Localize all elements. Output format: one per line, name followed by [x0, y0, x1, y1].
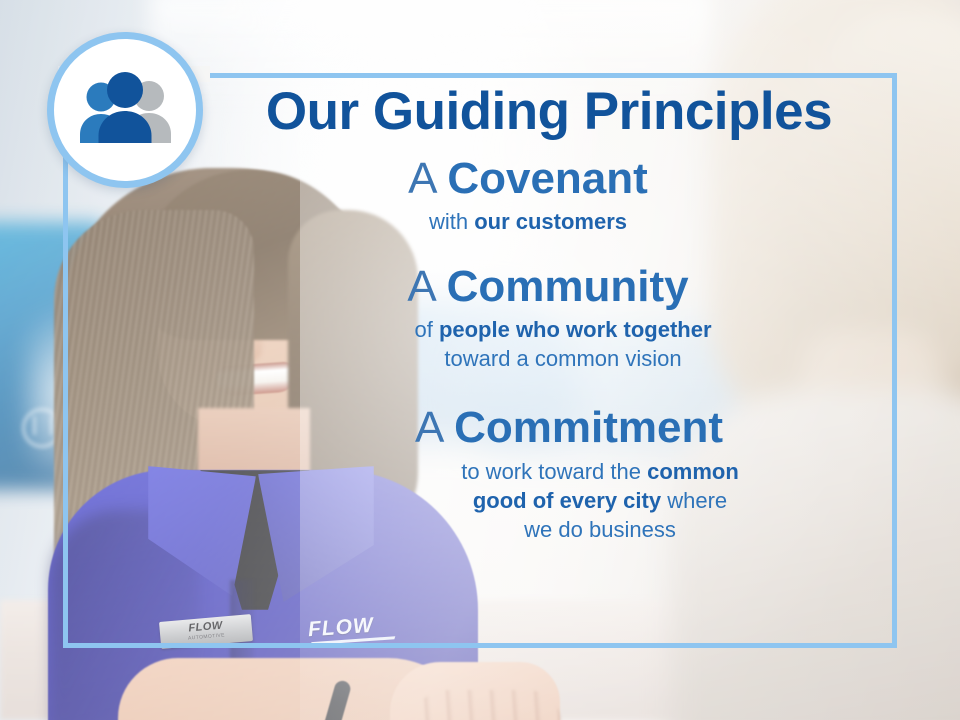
- people-group-icon: [73, 72, 177, 148]
- community-sub-part-0: of: [414, 317, 438, 342]
- principle-covenant-lead: A: [408, 154, 447, 203]
- principle-commitment-sub: to work toward the common good of every …: [255, 457, 883, 544]
- people-group-badge: [47, 32, 203, 188]
- commitment-sub-part-0: to work toward the: [461, 459, 647, 484]
- commitment-sub-part-4: where: [661, 488, 727, 513]
- page-title: Our Guiding Principles: [215, 84, 883, 140]
- principle-community-keyword: Community: [447, 262, 689, 311]
- principle-covenant-title: A Covenant: [215, 154, 841, 203]
- associate-fingers: [412, 690, 562, 720]
- principle-commitment: A Commitment to work toward the common g…: [215, 403, 883, 543]
- principle-community-lead: A: [407, 262, 446, 311]
- covenant-sub-part-1: our customers: [474, 209, 627, 234]
- principle-covenant-keyword: Covenant: [447, 154, 647, 203]
- principle-community-title: A Community: [215, 262, 881, 311]
- principle-covenant-sub: with our customers: [215, 207, 841, 236]
- text-column: Our Guiding Principles A Covenant with o…: [215, 84, 883, 544]
- polo-chest-logo: FLOW: [307, 614, 374, 643]
- principle-commitment-title: A Commitment: [255, 403, 883, 452]
- flyer-canvas: FLOW AUTOMOTIVE FLOW: [0, 0, 960, 720]
- principle-commitment-keyword: Commitment: [454, 403, 723, 452]
- commitment-sub-part-1: common: [647, 459, 739, 484]
- principle-commitment-lead: A: [415, 403, 454, 452]
- covenant-sub-part-0: with: [429, 209, 474, 234]
- commitment-sub-part-3: good of every city: [473, 488, 661, 513]
- principle-community-sub: of people who work together toward a com…: [215, 315, 881, 373]
- community-sub-part-1: people who work together: [439, 317, 712, 342]
- community-sub-part-3: toward a common vision: [444, 346, 681, 371]
- principle-community: A Community of people who work together …: [215, 262, 883, 373]
- principle-covenant: A Covenant with our customers: [215, 154, 883, 236]
- commitment-sub-part-6: we do business: [524, 517, 676, 542]
